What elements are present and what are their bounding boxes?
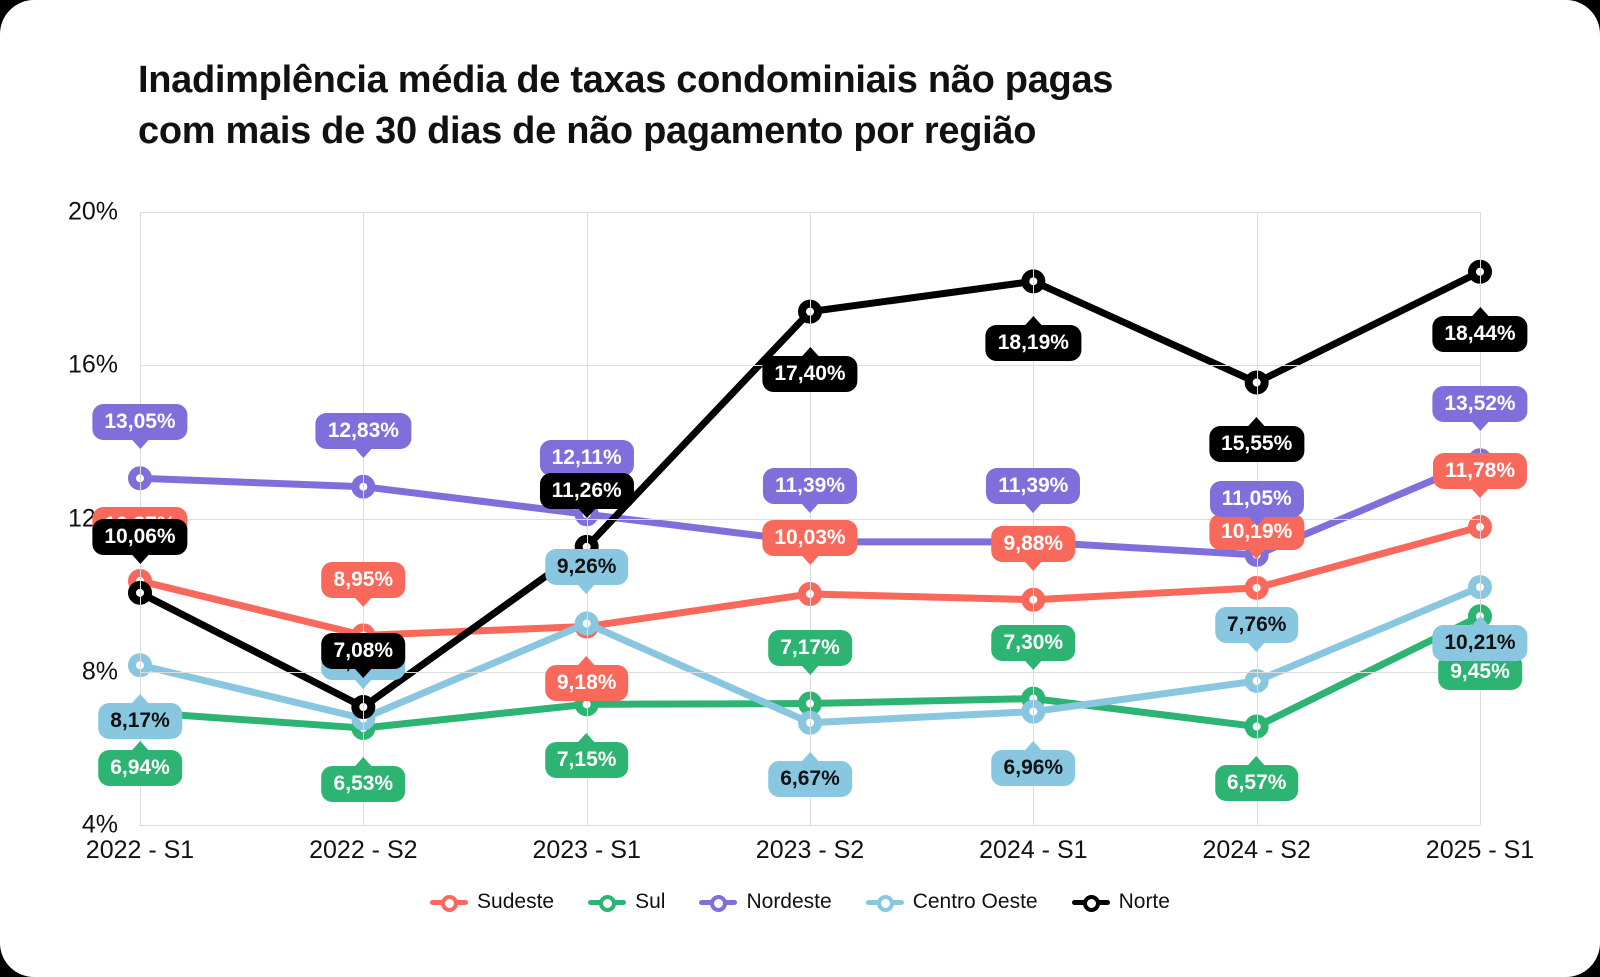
x-axis-tick-label: 2022 - S2 [309,836,417,865]
gridline-horizontal [140,825,1480,826]
data-label: 11,39% [763,468,857,504]
data-label: 7,76% [1215,607,1299,643]
data-label: 18,44% [1432,316,1527,352]
legend-marker-icon [1072,893,1110,911]
x-axis-tick-label: 2025 - S1 [1426,836,1534,865]
data-label: 7,30% [992,625,1076,661]
data-label: 9,88% [992,526,1076,562]
data-label: 11,05% [1210,481,1304,517]
data-label: 8,17% [98,703,182,739]
legend-marker-icon [699,893,737,911]
x-axis-tick-label: 2024 - S1 [979,836,1087,865]
data-label: 13,05% [92,404,187,440]
data-label: 6,96% [992,750,1076,786]
chart-title: Inadimplência média de taxas condominiai… [138,55,1338,156]
data-label: 11,26% [540,473,634,509]
legend-label: Centro Oeste [913,890,1038,914]
y-axis-tick-label: 16% [0,351,118,380]
data-label: 18,19% [986,325,1081,361]
x-axis-tick-label: 2023 - S1 [532,836,640,865]
data-label: 15,55% [1209,426,1304,462]
x-axis-tick-label: 2022 - S1 [86,836,194,865]
legend-label: Sul [635,890,665,914]
legend-marker-icon [588,893,626,911]
legend-item-sul[interactable]: Sul [588,890,665,914]
data-label: 6,53% [322,766,406,802]
data-label: 12,83% [316,413,411,449]
x-axis-tick-label: 2024 - S2 [1202,836,1310,865]
chart-legend: SudesteSulNordesteCentro OesteNorte [0,890,1600,914]
data-label: 10,03% [762,520,857,556]
y-axis-tick-label: 8% [0,657,118,686]
data-label: 11,78% [1433,453,1527,489]
data-label: 7,08% [322,633,406,669]
data-label: 11,39% [986,468,1080,504]
legend-item-sudeste[interactable]: Sudeste [430,890,554,914]
legend-label: Norte [1119,890,1170,914]
legend-marker-icon [430,893,468,911]
data-label: 17,40% [762,356,857,392]
legend-item-centro-oeste[interactable]: Centro Oeste [866,890,1038,914]
data-label: 7,15% [545,742,629,778]
data-label: 12,11% [540,440,634,476]
x-axis-tick-label: 2023 - S2 [756,836,864,865]
legend-label: Sudeste [477,890,554,914]
legend-item-norte[interactable]: Norte [1072,890,1170,914]
gridline-vertical [1480,212,1481,825]
legend-item-nordeste[interactable]: Nordeste [699,890,831,914]
gridline-horizontal [140,212,1480,213]
data-label: 6,94% [98,750,182,786]
chart-title-line-2: com mais de 30 dias de não pagamento por… [138,106,1338,157]
y-axis-tick-label: 20% [0,198,118,227]
data-label: 6,67% [768,761,852,797]
data-label: 9,26% [545,549,629,585]
chart-title-line-1: Inadimplência média de taxas condominiai… [138,55,1338,106]
data-label: 9,18% [545,665,629,701]
data-label: 10,06% [92,519,187,555]
data-label: 6,57% [1215,765,1299,801]
data-label: 13,52% [1432,386,1527,422]
legend-marker-icon [866,893,904,911]
legend-label: Nordeste [746,890,831,914]
chart-card: Inadimplência média de taxas condominiai… [0,0,1600,977]
data-label: 7,17% [768,630,852,666]
data-label: 10,21% [1432,625,1527,661]
data-label: 8,95% [322,562,406,598]
